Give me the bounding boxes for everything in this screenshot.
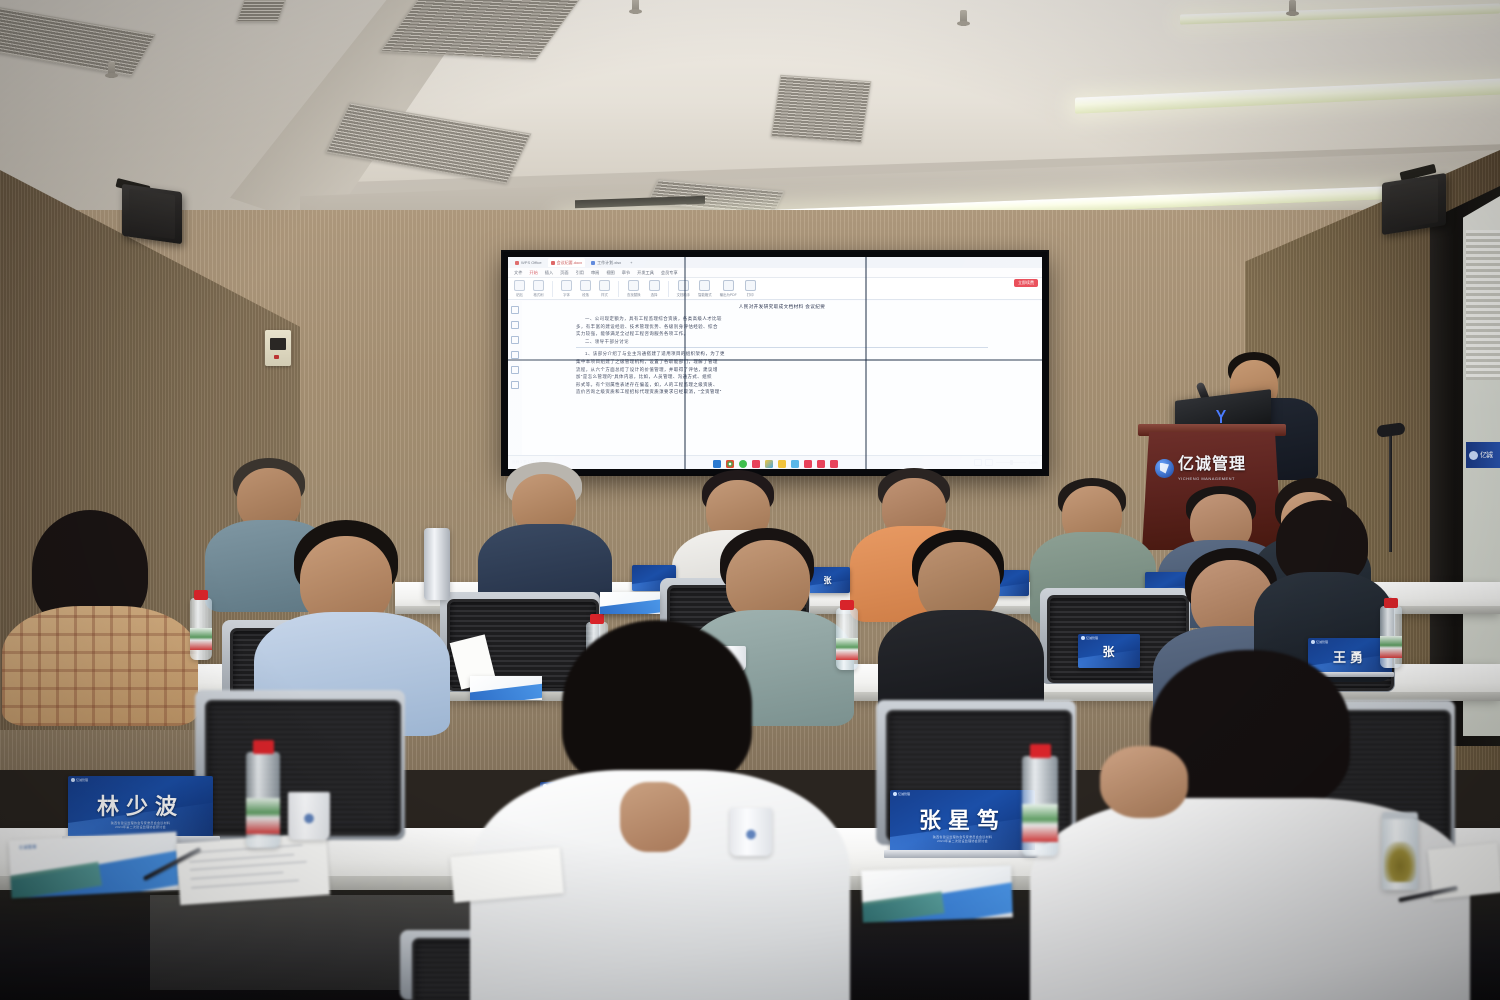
wps-side-rail[interactable]: [508, 301, 522, 455]
ribbon-label: 格式刷: [533, 292, 543, 297]
door-blind: [1466, 230, 1500, 380]
nameplate-linshaobo: 亿诚管理 林少波 陕西省建设监理协会专家委员会会议材料 2024年第二次建设监理…: [68, 776, 213, 838]
font-icon: [561, 280, 572, 291]
doc-line: 二、领导干部分讨论: [576, 338, 988, 346]
brochure[interactable]: [600, 592, 660, 614]
folder-icon[interactable]: [778, 460, 786, 468]
ribbon-label: 字体: [563, 292, 570, 297]
ribbon-button-6[interactable]: 选择: [649, 280, 660, 297]
wall-speaker-right: [1382, 173, 1446, 235]
doc-line: 流程，从六个方面总结了设计的价值管理，并取得了评估，建议增: [576, 366, 988, 374]
doc-line: 形式等。有个别属性表述存在偏差，如，人的工程监理之级资质、: [576, 381, 988, 389]
meeting-room-photo: 亿诚 WPS Office 会议纪要.docx 工作计划.xlsx: [0, 0, 1500, 1000]
ribbon-label: 段落: [582, 292, 589, 297]
doc-line: 多，有丰富的建设经验、技术管理优势、各级别身评估经验、综合: [576, 323, 988, 331]
menu-item-6[interactable]: 视图: [606, 270, 614, 276]
wps-tab-1[interactable]: 会议纪要.docx: [548, 258, 586, 267]
paste-icon: [514, 280, 525, 291]
ribbon-button-5[interactable]: 查找替换: [627, 280, 641, 297]
tea-glass[interactable]: [1382, 812, 1418, 890]
menu-item-9[interactable]: 会员专享: [661, 270, 678, 276]
podium-brand-label: 亿诚管理: [1178, 456, 1246, 473]
attendee-plaid-jacket: [8, 510, 188, 710]
brand-logo-icon: 亿诚管理: [1311, 640, 1328, 644]
menu-item-8[interactable]: 开发工具: [637, 270, 654, 276]
ribbon-button-2[interactable]: 字体: [561, 280, 572, 297]
doc-line: 加“是怎么管理的”具体内容，比如，人员管理、沟通方式、组织: [576, 373, 988, 381]
format-painter-icon: [533, 280, 544, 291]
ribbon-label: 智能格式: [698, 292, 712, 297]
wps-logo-icon: [515, 261, 519, 265]
wps-tab-bar[interactable]: WPS Office 会议纪要.docx 工作计划.xlsx +: [508, 257, 1042, 268]
microphone-stand: [1389, 432, 1392, 552]
menu-item-0[interactable]: 文件: [514, 270, 522, 276]
podium-brand-sub: YICHENG MANAGEMENT: [1178, 476, 1246, 481]
wps-writer-icon[interactable]: [752, 460, 760, 468]
paper-cup[interactable]: [730, 808, 772, 856]
wps-ribbon-toolbar[interactable]: 粘贴 格式刷 字体 段落 样式: [508, 278, 1042, 300]
thumbnail-icon[interactable]: [511, 321, 519, 329]
wps-sheet-icon[interactable]: [765, 460, 773, 468]
edit-icon[interactable]: [511, 366, 519, 374]
wechat-icon[interactable]: [739, 460, 747, 468]
paragraph-icon: [580, 280, 591, 291]
wps-tab-0[interactable]: WPS Office: [512, 258, 545, 267]
start-icon[interactable]: [713, 460, 721, 468]
brochure-title: 亿诚管理: [19, 844, 37, 851]
brand-logo-icon: 亿诚管理: [893, 792, 910, 796]
ribbon-button-4[interactable]: 样式: [599, 280, 610, 297]
doc-icon: [551, 261, 555, 265]
brand-logo-icon: 亿诚管理: [71, 778, 88, 782]
water-bottle[interactable]: [190, 598, 212, 660]
video-wall-display[interactable]: WPS Office 会议纪要.docx 工作计划.xlsx + 文件 开始 插…: [503, 252, 1047, 474]
document-body: 一、公司现定额为，具有工程监理综合资质，各类高级人才比较 多，有丰富的建设经验、…: [522, 310, 1042, 396]
air-vent-icon: [771, 75, 872, 143]
ribbon-label: 查找替换: [627, 292, 641, 297]
ribbon-label: 打印: [747, 292, 754, 297]
sheet-icon: [591, 261, 595, 265]
presentation-screen[interactable]: WPS Office 会议纪要.docx 工作计划.xlsx + 文件 开始 插…: [508, 257, 1042, 469]
nameplate-subtitle: 2024年第二次建设监理协会研讨会: [937, 839, 988, 843]
renew-membership-badge[interactable]: 立即续费: [1014, 279, 1038, 287]
ribbon-button-9[interactable]: 输出为PDF: [720, 280, 737, 297]
menu-item-2[interactable]: 插入: [545, 270, 553, 276]
ribbon-label: 粘贴: [516, 292, 523, 297]
mail-icon[interactable]: [791, 460, 799, 468]
thermos-tumbler[interactable]: [424, 528, 450, 600]
wps-tab-2[interactable]: 工作计划.xlsx: [588, 258, 624, 267]
ribbon-button-8[interactable]: 智能格式: [698, 280, 712, 297]
wps-tab-new[interactable]: +: [627, 258, 635, 267]
attendee-black-shirt-mid: [880, 530, 1040, 720]
translate-icon[interactable]: [511, 351, 519, 359]
smart-format-icon: [699, 280, 710, 291]
wps-s-icon[interactable]: [817, 460, 825, 468]
brand-logo-icon: [1155, 459, 1174, 478]
more-icon[interactable]: [511, 381, 519, 389]
wps-w-icon[interactable]: [804, 460, 812, 468]
door-banner: 亿诚: [1466, 442, 1500, 468]
attendee-front-white-shirt: [470, 620, 840, 1000]
handout-paper[interactable]: [450, 847, 564, 902]
ribbon-label: 选择: [651, 292, 658, 297]
wall-control-panel[interactable]: [265, 330, 291, 366]
wps-menu-bar[interactable]: 文件 开始 插入 页面 引用 审阅 视图 章节 开发工具 会员专享: [508, 268, 1042, 278]
sprinkler-icon: [108, 62, 115, 78]
wps-tab-label: +: [630, 260, 632, 265]
outline-icon[interactable]: [511, 306, 519, 314]
air-vent-icon: [236, 0, 286, 22]
comment-icon[interactable]: [511, 336, 519, 344]
menu-item-7[interactable]: 章节: [622, 270, 630, 276]
brochure[interactable]: [861, 865, 1013, 922]
brand-logo-icon: [1469, 451, 1478, 460]
water-bottle[interactable]: [1022, 756, 1058, 856]
doc-line: 实力较强，能够满足全过程工程咨询服务各项工作。: [576, 330, 988, 338]
doc-line: 一、公司现定额为，具有工程监理综合资质，各类高级人才比较: [576, 315, 988, 323]
doc-line: 造价咨询之级资质和工程招标代理资质须要求已经取消，“全资管理”: [576, 388, 988, 396]
select-icon: [649, 280, 660, 291]
sprinkler-icon: [960, 10, 967, 26]
nameplate-subtitle: 2024年第二次建设监理协会研讨会: [115, 825, 166, 829]
podium-brand: 亿诚管理 YICHENG MANAGEMENT: [1155, 455, 1271, 481]
wps-tab-label: 会议纪要.docx: [557, 260, 583, 266]
wps-tab-label: 工作计划.xlsx: [597, 260, 621, 266]
doc-line: 1、该部分介绍了与业主沟通搭建了适用项目的组织架构，为了更: [576, 350, 988, 358]
ribbon-label: 输出为PDF: [720, 292, 737, 297]
styles-icon: [599, 280, 610, 291]
menu-item-5[interactable]: 审阅: [591, 270, 599, 276]
sprinkler-icon: [1289, 0, 1296, 16]
menu-item-3[interactable]: 页面: [560, 270, 568, 276]
ribbon-label: 样式: [601, 292, 608, 297]
nameplate-zhangxingdu: 亿诚管理 张星笃 陕西省建设监理协会专家委员会会议材料 2024年第二次建设监理…: [890, 790, 1035, 852]
water-bottle[interactable]: [246, 752, 280, 848]
wps-p-icon[interactable]: [830, 460, 838, 468]
brochure[interactable]: 亿诚管理: [9, 832, 180, 899]
find-replace-icon: [628, 280, 639, 291]
sprinkler-icon: [632, 0, 639, 14]
export-pdf-icon: [723, 280, 734, 291]
wps-tab-label: WPS Office: [521, 260, 542, 265]
attendee-grey-hair: [480, 462, 610, 612]
ribbon-button-10[interactable]: 打印: [745, 280, 756, 297]
menu-item-1[interactable]: 开始: [529, 270, 537, 276]
ribbon-button-3[interactable]: 段落: [580, 280, 591, 297]
paper-cup[interactable]: [288, 792, 330, 840]
menu-item-4[interactable]: 引用: [576, 270, 584, 276]
document-page[interactable]: 人民对开发研究取成文档材料 会议纪要 一、公司现定额为，具有工程监理综合资质，各…: [522, 301, 1042, 455]
print-icon: [745, 280, 756, 291]
ribbon-button-0[interactable]: 粘贴: [514, 280, 525, 297]
chrome-icon[interactable]: [726, 460, 734, 468]
door-banner-label: 亿诚: [1480, 450, 1492, 460]
wall-speaker-left: [122, 184, 182, 244]
brand-logo-icon: 亿诚管理: [1081, 636, 1098, 640]
ribbon-button-1[interactable]: 格式刷: [533, 280, 544, 297]
